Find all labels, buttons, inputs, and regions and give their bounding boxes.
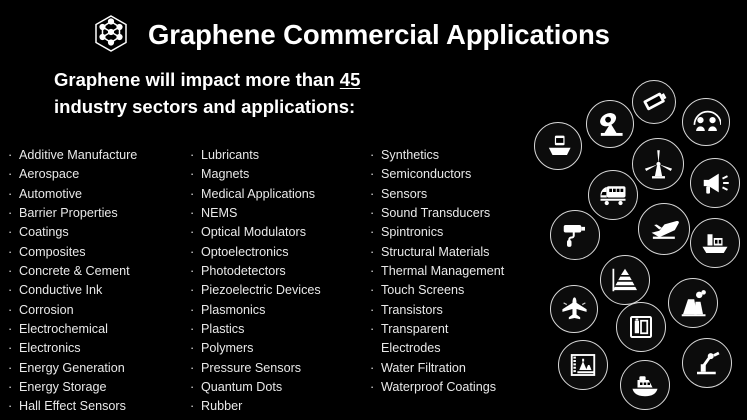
list-item: ·Optoelectronics [190,243,376,262]
satellite-dish-icon [586,100,634,148]
bullet-marker: · [370,223,381,242]
bullet-marker: · [190,301,201,320]
bullet-marker: · [8,320,19,339]
list-item-label: Spintronics [381,223,443,242]
list-item: ·Corrosion [8,301,188,320]
bullet-marker: · [370,243,381,262]
list-item-label: Additive Manufacture [19,146,137,165]
column-1: ·Additive Manufacture·Aerospace·Automoti… [8,146,188,417]
list-item: ·Electronics [8,339,188,358]
list-item-label: Touch Screens [381,281,464,300]
list-item: ·NEMS [190,204,376,223]
list-item: ·Water Filtration [370,359,542,378]
list-item-label: Magnets [201,165,249,184]
list-item-label: Conductive Ink [19,281,102,300]
list-item-label: Sensors [381,185,427,204]
list-item: ·Conductive Ink [8,281,188,300]
list-item-label: Thermal Management [381,262,504,281]
slide-root: Graphene Commercial Applications Graphen… [0,0,747,420]
list-item: ·Semiconductors [370,165,542,184]
list-item-label: Electrochemical [19,320,108,339]
applications-list: ·Additive Manufacture·Aerospace·Automoti… [0,146,540,416]
list-item-label: Corrosion [19,301,74,320]
bullet-marker: · [370,378,381,397]
list-item: ·Rubber [190,397,376,416]
list-item-label: Composites [19,243,86,262]
list-item: ·Medical Applications [190,185,376,204]
bullet-marker: · [8,301,19,320]
list-item: ·Synthetics [370,146,542,165]
bullet-marker: · [190,359,201,378]
list-item: ·Hall Effect Sensors [8,397,188,416]
bullet-marker: · [190,281,201,300]
bullet-marker: · [370,301,381,320]
list-item: Electrodes [370,339,542,358]
list-item: ·Barrier Properties [8,204,188,223]
bullet-marker: · [8,165,19,184]
bullet-marker: · [190,165,201,184]
list-item-label: Energy Generation [19,359,125,378]
laboratory-icon [558,340,608,390]
paint-roller-icon [550,210,600,260]
list-item-label: Optical Modulators [201,223,306,242]
list-item-label: Electronics [19,339,81,358]
list-item-label: Photodetectors [201,262,286,281]
battery-icon [632,80,676,124]
list-item: ·Aerospace [8,165,188,184]
list-item: ·Plastics [190,320,376,339]
bullet-marker: · [8,397,19,416]
list-item-label: Water Filtration [381,359,466,378]
list-item-label: Aerospace [19,165,79,184]
battery-cell-icon [616,302,666,352]
bullet-marker: · [370,165,381,184]
bullet-marker: · [8,281,19,300]
list-item: ·Energy Storage [8,378,188,397]
bullet-marker: · [8,204,19,223]
bullet-marker: · [8,359,19,378]
list-item-label: Plasmonics [201,301,265,320]
list-item: ·Transparent [370,320,542,339]
bullet-marker: · [370,359,381,378]
bullet-marker: · [190,223,201,242]
list-item: ·Structural Materials [370,243,542,262]
printer-3d-icon [534,122,582,170]
list-item-label: Hall Effect Sensors [19,397,126,416]
list-item-label: Piezoelectric Devices [201,281,321,300]
bullet-marker: · [190,378,201,397]
bullet-marker: · [190,339,201,358]
list-item: ·Energy Generation [8,359,188,378]
list-item: ·Thermal Management [370,262,542,281]
bullet-marker: · [370,185,381,204]
list-item-label: Semiconductors [381,165,471,184]
megaphone-icon [690,158,740,208]
list-item-label: Sound Transducers [381,204,490,223]
list-item: ·Sound Transducers [370,204,542,223]
bullet-marker: · [8,262,19,281]
list-item: ·Piezoelectric Devices [190,281,376,300]
list-item: ·Quantum Dots [190,378,376,397]
list-item-label: Polymers [201,339,253,358]
bullet-marker: · [190,243,201,262]
power-plant-icon [668,278,718,328]
list-item: ·Waterproof Coatings [370,378,542,397]
list-item: ·Spintronics [370,223,542,242]
list-item: ·Composites [8,243,188,262]
network-people-icon [682,98,730,146]
list-item-label: Transistors [381,301,443,320]
list-item: ·Pressure Sensors [190,359,376,378]
bullet-marker: · [190,320,201,339]
list-item-label: Medical Applications [201,185,315,204]
bullet-marker: · [8,339,19,358]
subtitle: Graphene will impact more than 45 indust… [54,66,524,120]
subtitle-line1-pre: Graphene will impact more than [54,69,340,90]
column-2: ·Lubricants·Magnets·Medical Applications… [190,146,376,417]
list-item: ·Photodetectors [190,262,376,281]
list-item-label: Barrier Properties [19,204,118,223]
wind-turbine-icon [632,138,684,190]
cargo-ship-icon [690,218,740,268]
list-item: ·Concrete & Cement [8,262,188,281]
list-item-label: Concrete & Cement [19,262,130,281]
list-item: ·Coatings [8,223,188,242]
list-item-label: Synthetics [381,146,439,165]
chart-pyramid-icon [600,255,650,305]
bullet-marker: · [370,281,381,300]
list-item-label: Pressure Sensors [201,359,301,378]
list-item-label: NEMS [201,204,237,223]
list-item-label: Waterproof Coatings [381,378,496,397]
list-item: ·Polymers [190,339,376,358]
list-item-label: Optoelectronics [201,243,289,262]
airplane-top-icon [550,285,598,333]
bullet-marker: · [190,262,201,281]
bullet-marker: · [190,146,201,165]
list-item: ·Automotive [8,185,188,204]
list-item: ·Magnets [190,165,376,184]
boat-icon [620,360,670,410]
bullet-marker: · [370,262,381,281]
train-icon [588,170,638,220]
list-item-label: Plastics [201,320,244,339]
list-item: ·Transistors [370,301,542,320]
bullet-marker: · [190,185,201,204]
list-item: ·Additive Manufacture [8,146,188,165]
list-item: ·Electrochemical [8,320,188,339]
page-title: Graphene Commercial Applications [148,21,610,49]
slide-header: Graphene Commercial Applications [88,12,610,58]
graphene-hexagon-lattice-icon [88,12,134,58]
list-item-label: Lubricants [201,146,259,165]
list-item: ·Touch Screens [370,281,542,300]
bullet-marker: · [8,146,19,165]
list-item-label: Structural Materials [381,243,489,262]
icon-cluster [520,80,747,420]
list-item: ·Lubricants [190,146,376,165]
airplane-jet-icon [638,203,690,255]
bullet-marker: · [8,243,19,262]
subtitle-line2: industry sectors and applications: [54,96,355,117]
bullet-marker: · [370,320,381,339]
bullet-marker: · [190,397,201,416]
bullet-marker: · [8,378,19,397]
list-item: ·Plasmonics [190,301,376,320]
bullet-marker: · [8,185,19,204]
list-item-label: Energy Storage [19,378,107,397]
list-item-label: Coatings [19,223,69,242]
subtitle-count: 45 [340,69,361,90]
list-item-label: Rubber [201,397,242,416]
list-item: ·Optical Modulators [190,223,376,242]
list-item-label: Electrodes [381,339,441,358]
bullet-marker: · [8,223,19,242]
list-item: ·Sensors [370,185,542,204]
column-3: ·Synthetics·Semiconductors·Sensors·Sound… [370,146,542,397]
list-item-label: Automotive [19,185,82,204]
bullet-marker: · [370,204,381,223]
list-item-label: Quantum Dots [201,378,282,397]
robot-arm-icon [682,338,732,388]
bullet-marker: · [370,146,381,165]
list-item-label: Transparent [381,320,448,339]
bullet-marker: · [190,204,201,223]
